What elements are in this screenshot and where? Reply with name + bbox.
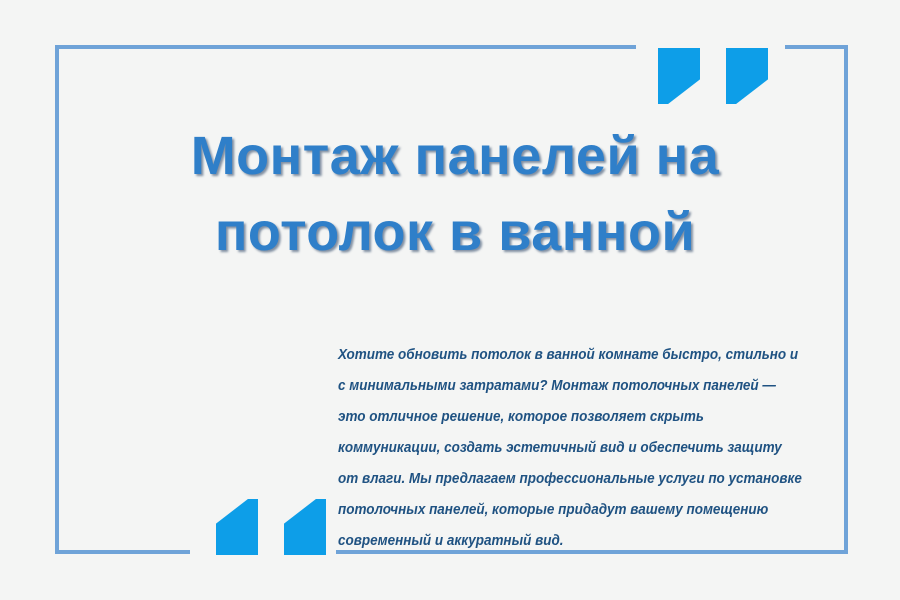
body-paragraph: Хотите обновить потолок в ванной комнате… <box>338 340 803 557</box>
frame-border-top-left <box>55 45 636 49</box>
body-text-block: Хотите обновить потолок в ванной комнате… <box>338 340 838 557</box>
slide-canvas: Монтаж панелей на потолок в ванной Хотит… <box>0 0 900 600</box>
frame-border-left <box>55 45 59 554</box>
opening-quote-icon <box>216 499 258 555</box>
opening-quote-icon-group <box>216 499 326 555</box>
frame-border-bottom-left <box>55 550 190 554</box>
page-title-line-1: Монтаж панелей на <box>60 118 850 194</box>
closing-quote-icon <box>658 48 700 104</box>
frame-border-top-right <box>785 45 848 49</box>
closing-quote-icon-group <box>658 48 768 104</box>
page-title: Монтаж панелей на потолок в ванной <box>60 118 850 270</box>
opening-quote-icon <box>284 499 326 555</box>
page-title-line-2: потолок в ванной <box>60 194 850 270</box>
closing-quote-icon <box>726 48 768 104</box>
